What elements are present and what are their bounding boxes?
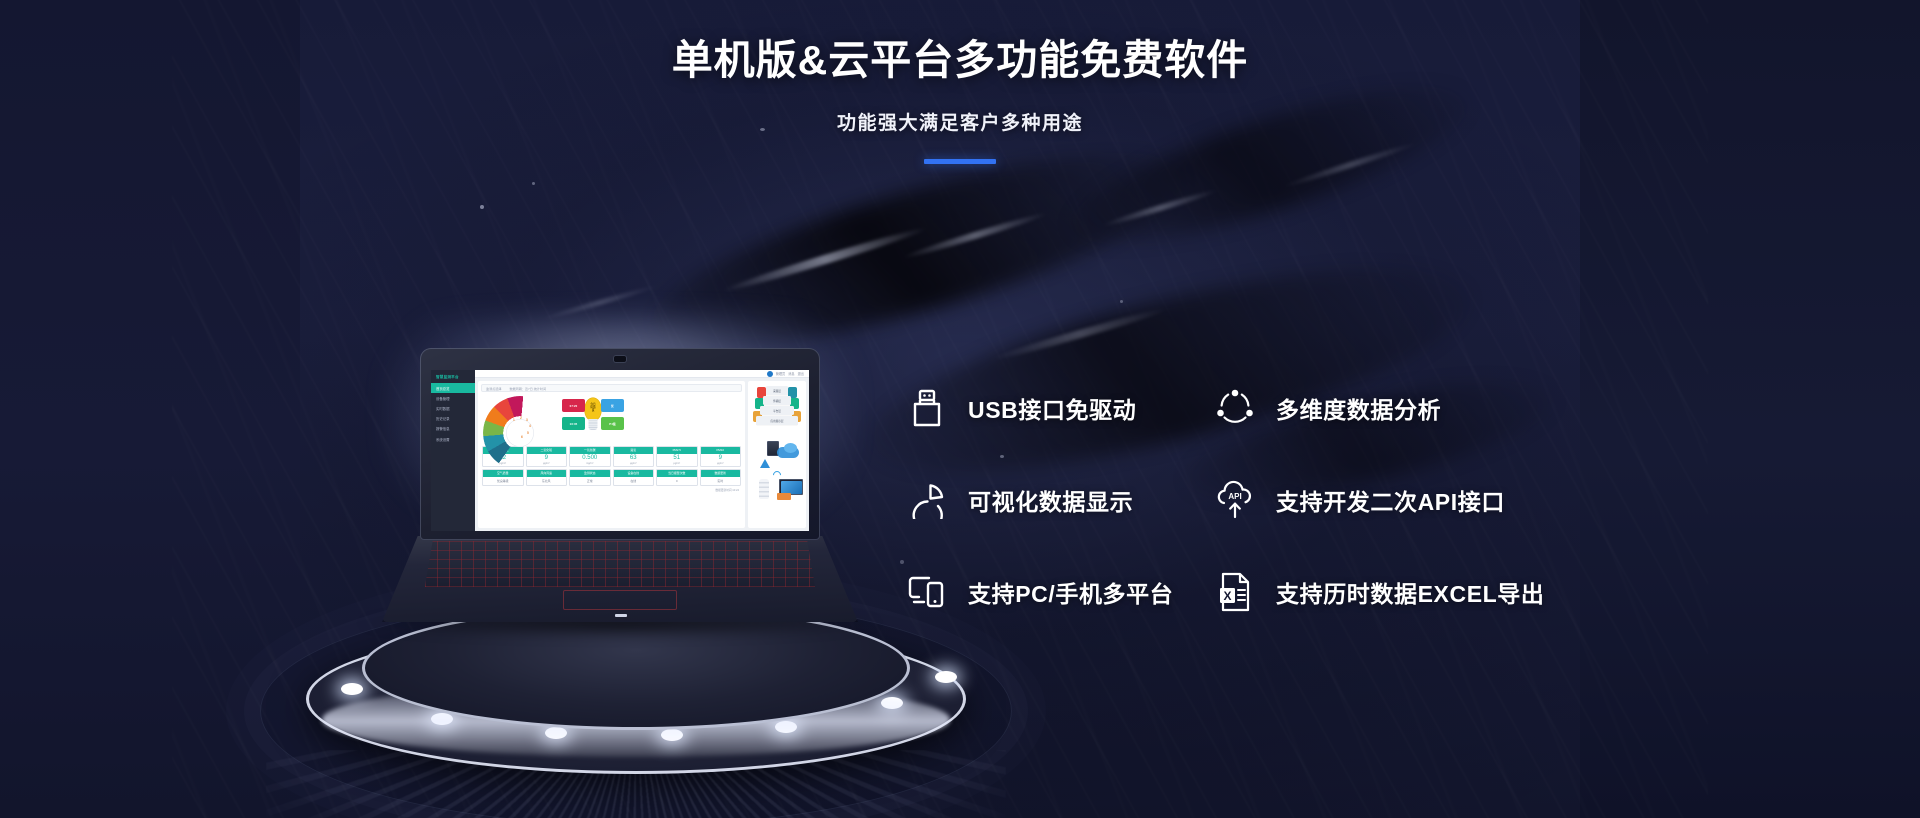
kpi-unit: μg/m³ <box>701 461 741 467</box>
pie-chart-icon <box>905 477 949 523</box>
sidebar-item-home[interactable]: 首页总览 <box>431 383 475 393</box>
dashboard-brand: 智慧监测平台 <box>431 373 475 383</box>
feature-item-excel-export[interactable]: X 支持历时数据EXCEL导出 <box>1213 546 1544 638</box>
kpi-card: 风向风速 东北风 <box>526 469 568 486</box>
kpi-unit: mg/m³ <box>570 461 610 467</box>
kpi-card: 监测状态 正常 <box>569 469 611 486</box>
status-bulb-infographic: 今日环境良 07:20 优 16:35 P4级 <box>562 396 624 444</box>
gauge-tick-6: 6 <box>521 435 523 439</box>
feature-label: 多维度数据分析 <box>1276 391 1441 425</box>
kpi-card: 一氧化碳 0.500 mg/m³ <box>569 446 611 467</box>
laptop-lid: 智慧监测平台 首页总览 设备管理 实时数据 历史记录 报警信息 系统设置 管理员… <box>420 348 820 540</box>
feature-label: 可视化数据显示 <box>968 483 1133 517</box>
dashboard-footer-timestamp: 数据更新时间 10:24 <box>481 486 742 492</box>
hero-header: 单机版&云平台多功能免费软件 功能强大满足客户多种用途 <box>0 0 1920 164</box>
feature-item-multiplatform[interactable]: 支持PC/手机多平台 <box>905 546 1205 638</box>
dashboard-filter-bar[interactable]: 监测点选择 数据周期：近7日 统计时间 <box>481 384 742 392</box>
feature-label: 支持历时数据EXCEL导出 <box>1276 575 1544 609</box>
bulb-tag-sunrise: 07:20 <box>562 399 585 412</box>
funnel-step: 平台层 <box>760 406 794 415</box>
kpi-card: 当日报警次数 0 <box>656 469 698 486</box>
bulb-center-text: 今日环境良 <box>590 403 595 413</box>
bulb-tag-air: 优 <box>601 399 624 412</box>
svg-text:API: API <box>1228 492 1241 501</box>
feature-label: USB接口免驱动 <box>968 391 1136 425</box>
funnel-step: 应用展示层 <box>756 416 798 425</box>
topbar-user[interactable]: 管理员 <box>776 371 786 376</box>
filter-site-select[interactable]: 监测点选择 <box>486 386 501 391</box>
feature-list: USB接口免驱动 多维度数据分析 可视化数据显示 <box>905 362 1544 638</box>
filter-period-label[interactable]: 数据周期：近7日 统计时间 <box>509 386 546 391</box>
sidebar-item-history[interactable]: 历史记录 <box>431 414 475 424</box>
gauge-tick-2: 2 <box>520 416 522 420</box>
kpi-value: 51 <box>657 454 697 461</box>
sensor-icon <box>759 479 769 499</box>
kpi-title: 当日报警次数 <box>657 470 697 477</box>
page-subtitle: 功能强大满足客户多种用途 <box>0 108 1920 135</box>
dashboard-sidebar: 智慧监测平台 首页总览 设备管理 实时数据 历史记录 报警信息 系统设置 <box>431 370 475 531</box>
network-diagram <box>751 441 803 505</box>
environment-gauge-chart: 1 2 3 4 5 6 <box>483 396 557 444</box>
svg-text:X: X <box>1223 589 1231 603</box>
sidebar-item-realtime[interactable]: 实时数据 <box>431 403 475 413</box>
sidebar-item-devices[interactable]: 设备管理 <box>431 393 475 403</box>
dashboard-topbar: 管理员 消息 退出 <box>475 370 809 378</box>
architecture-funnel: 采集层 传输层 平台层 应用展示层 <box>751 385 803 427</box>
usb-icon <box>905 385 949 431</box>
kpi-value: 优良等级 <box>483 477 523 485</box>
laptop-webcam <box>613 355 627 363</box>
laptop-latch <box>615 614 627 617</box>
kpi-title: PM10 <box>701 447 741 454</box>
kpi-card: 臭氧 63 μg/m³ <box>613 446 655 467</box>
sidebar-item-settings[interactable]: 系统设置 <box>431 434 475 444</box>
kpi-card: PM10 9 μg/m³ <box>700 446 742 467</box>
kpi-column: PM10 9 μg/m³ 数据更新 实时 <box>700 446 742 486</box>
funnel-step: 传输层 <box>763 396 791 405</box>
feature-item-api[interactable]: API 支持开发二次API接口 <box>1213 454 1544 546</box>
feature-item-visualization[interactable]: 可视化数据显示 <box>905 454 1205 546</box>
laptop-screen: 智慧监测平台 首页总览 设备管理 实时数据 历史记录 报警信息 系统设置 管理员… <box>431 370 809 531</box>
kpi-title: 设备在线 <box>614 470 654 477</box>
kpi-value: 实时 <box>701 477 741 485</box>
vehicle-icon <box>777 493 791 500</box>
kpi-unit: μg/m³ <box>614 461 654 467</box>
gauge-tick-5: 5 <box>527 431 529 435</box>
dashboard-body: 监测点选择 数据周期：近7日 统计时间 1 2 3 <box>475 378 809 531</box>
kpi-title: 一氧化碳 <box>570 447 610 454</box>
topbar-messages[interactable]: 消息 <box>788 371 794 376</box>
kpi-value: 0 <box>657 477 697 485</box>
cloud-puff <box>784 443 797 453</box>
kpi-title: 风向风速 <box>527 470 567 477</box>
kpi-column: PM2.5 51 μg/m³ 当日报警次数 0 <box>656 446 698 486</box>
kpi-column: 一氧化碳 0.500 mg/m³ 监测状态 正常 <box>569 446 611 486</box>
gauge-tick-3: 3 <box>526 418 528 422</box>
sidebar-item-alarms[interactable]: 报警信息 <box>431 424 475 434</box>
kpi-title: 空气质量 <box>483 470 523 477</box>
hero-banner: 单机版&云平台多功能免费软件 功能强大满足客户多种用途 <box>0 0 1920 818</box>
kpi-value: 东北风 <box>527 477 567 485</box>
feature-item-usb[interactable]: USB接口免驱动 <box>905 362 1205 454</box>
kpi-value: 63 <box>614 454 654 461</box>
kpi-column: 臭氧 63 μg/m³ 设备在线 在线 <box>613 446 655 486</box>
kpi-card: 空气质量 优良等级 <box>482 469 524 486</box>
funnel-step: 采集层 <box>766 386 788 395</box>
devices-icon <box>905 569 949 615</box>
bulb-neck <box>589 419 598 430</box>
topbar-logout[interactable]: 退出 <box>798 371 804 376</box>
bulb-tag-wind: P4级 <box>601 417 624 430</box>
feature-label: 支持PC/手机多平台 <box>968 575 1173 609</box>
kpi-card: 数据更新 实时 <box>700 469 742 486</box>
kpi-title: 臭氧 <box>614 447 654 454</box>
dashboard-right-panel: 采集层 传输层 平台层 应用展示层 <box>748 381 806 528</box>
avatar[interactable] <box>767 371 773 377</box>
kpi-card: PM2.5 51 μg/m³ <box>656 446 698 467</box>
dashboard-visuals: 1 2 3 4 5 6 <box>481 392 742 446</box>
excel-file-icon: X <box>1213 569 1257 615</box>
kpi-value: 0.500 <box>570 454 610 461</box>
network-nodes-icon <box>1213 385 1257 431</box>
dashboard-left-column: 监测点选择 数据周期：近7日 统计时间 1 2 3 <box>478 381 745 528</box>
kpi-title: 监测状态 <box>570 470 610 477</box>
kpi-title: 数据更新 <box>701 470 741 477</box>
feature-label: 支持开发二次API接口 <box>1276 483 1505 517</box>
kpi-value: 9 <box>701 454 741 461</box>
kpi-title: PM2.5 <box>657 447 697 454</box>
laptop-base <box>382 536 858 622</box>
kpi-card: 设备在线 在线 <box>613 469 655 486</box>
feature-item-multidim-analysis[interactable]: 多维度数据分析 <box>1213 362 1544 454</box>
kpi-value: 正常 <box>570 477 610 485</box>
kpi-value: 在线 <box>614 477 654 485</box>
laptop-trackpad <box>563 590 677 610</box>
cloud-api-icon: API <box>1213 477 1257 523</box>
upload-arrow-icon <box>760 459 770 468</box>
laptop-keyboard <box>425 541 815 587</box>
dashboard-main: 管理员 消息 退出 监测点选择 数据周期：近7日 统计时间 <box>475 370 809 531</box>
accent-divider <box>924 159 996 164</box>
page-title: 单机版&云平台多功能免费软件 <box>0 26 1920 86</box>
bulb-tag-sunset: 16:35 <box>562 417 585 430</box>
kpi-unit: μg/m³ <box>657 461 697 467</box>
gauge-tick-1: 1 <box>513 418 515 422</box>
gauge-tick-4: 4 <box>529 424 531 428</box>
laptop-mockup: 智慧监测平台 首页总览 设备管理 实时数据 历史记录 报警信息 系统设置 管理员… <box>420 348 820 638</box>
